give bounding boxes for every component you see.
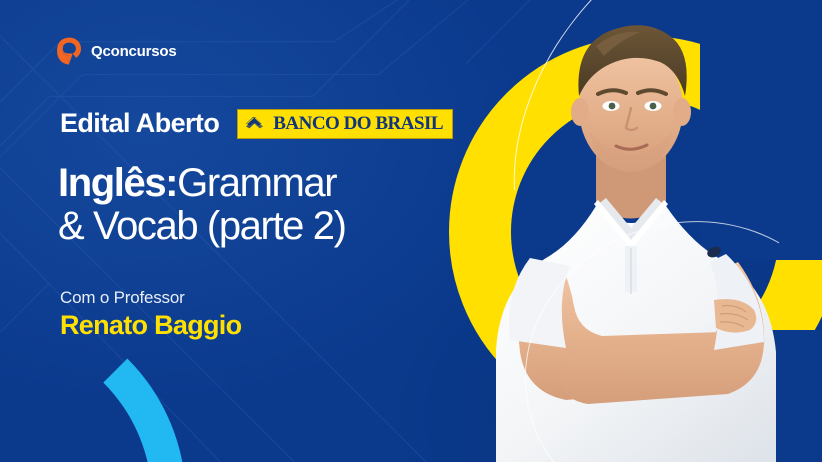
- brand-logo[interactable]: Qconcursos: [56, 36, 177, 66]
- eyebrow-text: Edital Aberto: [60, 108, 219, 139]
- headline-line2: & Vocab (parte 2): [58, 204, 346, 248]
- headline: Inglês:Grammar & Vocab (parte 2): [58, 162, 458, 248]
- presenter-label: Com o Professor: [60, 287, 241, 308]
- banco-do-brasil-badge: BANCO DO BRASIL: [237, 109, 453, 139]
- headline-rest: Grammar: [177, 161, 336, 205]
- headline-emphasis: Inglês:: [58, 161, 177, 205]
- eyebrow-row: Edital Aberto BANCO DO BRASIL: [60, 108, 453, 139]
- presenter-block: Com o Professor Renato Baggio: [60, 287, 241, 342]
- qconcursos-q-icon: [56, 36, 82, 66]
- banco-do-brasil-label: BANCO DO BRASIL: [273, 113, 443, 135]
- banner-content: Qconcursos Edital Aberto: [0, 0, 470, 462]
- promo-banner: Qconcursos Edital Aberto: [0, 0, 822, 462]
- brand-name: Qconcursos: [91, 43, 177, 60]
- banco-do-brasil-mark-icon: [245, 114, 267, 133]
- presenter-name: Renato Baggio: [60, 309, 241, 341]
